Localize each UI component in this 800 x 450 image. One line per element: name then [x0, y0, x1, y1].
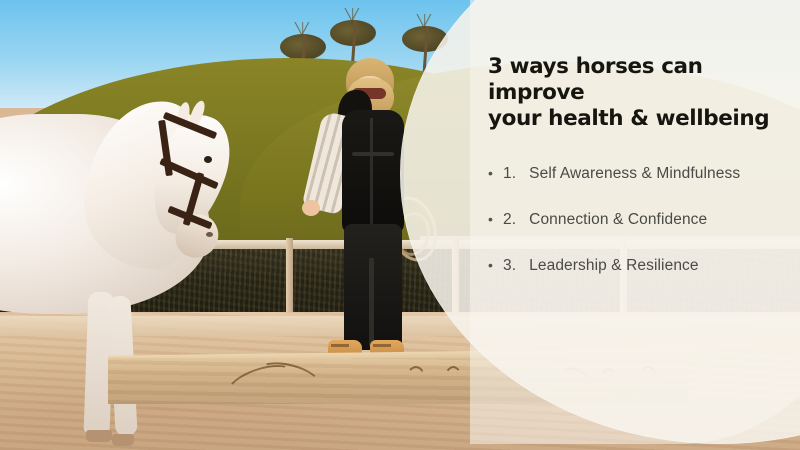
slide-canvas: 3 ways horses can improve your health & … [0, 0, 800, 450]
bullet-dot-icon: • [488, 212, 493, 226]
bullet-dot-icon: • [488, 166, 493, 180]
bullet-label: Connection & Confidence [529, 211, 707, 229]
vest-drawstring [352, 152, 394, 156]
list-item: • 1. Self Awareness & Mindfulness [488, 165, 788, 183]
text-content: 3 ways horses can improve your health & … [488, 54, 788, 303]
horse-nostril [206, 232, 213, 237]
bullet-list: • 1. Self Awareness & Mindfulness • 2. C… [488, 165, 788, 275]
hand [302, 200, 320, 216]
horse-eye [204, 156, 212, 163]
horse-hoof [112, 434, 134, 446]
bullet-dot-icon: • [488, 258, 493, 272]
page-title: 3 ways horses can improve your health & … [488, 54, 788, 133]
list-item: • 2. Connection & Confidence [488, 211, 788, 229]
black-vest [342, 110, 404, 234]
title-line-1: 3 ways horses can improve [488, 54, 703, 105]
horse-hoof [86, 430, 112, 442]
list-item: • 3. Leadership & Resilience [488, 257, 788, 275]
bullet-number: 2. [503, 211, 516, 229]
title-line-2: your health & wellbeing [488, 106, 769, 131]
jeans-seam [369, 258, 374, 346]
bullet-number: 1. [503, 165, 516, 183]
bullet-label: Self Awareness & Mindfulness [529, 165, 740, 183]
bullet-number: 3. [503, 257, 516, 275]
bullet-label: Leadership & Resilience [529, 257, 698, 275]
